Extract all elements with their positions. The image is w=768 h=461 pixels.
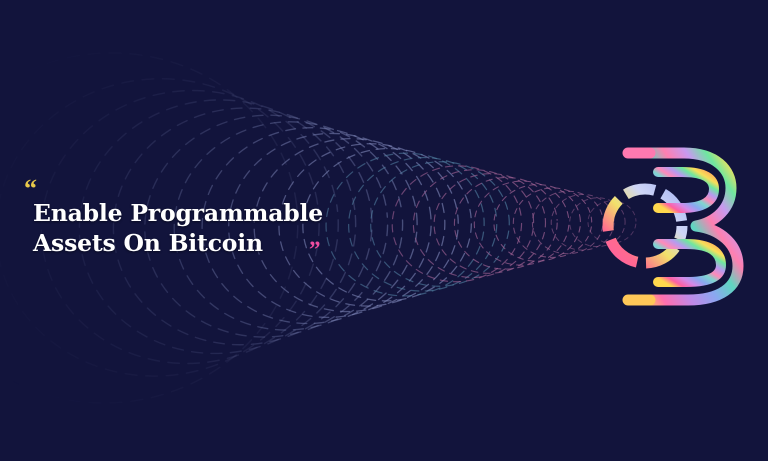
hero-banner: “ Enable Programmable Assets On Bitcoin …	[0, 0, 768, 461]
page-title: Enable Programmable Assets On Bitcoin	[33, 198, 323, 259]
quote-close-mark: ”	[309, 238, 320, 261]
bitcoin-b-logo	[588, 140, 756, 312]
